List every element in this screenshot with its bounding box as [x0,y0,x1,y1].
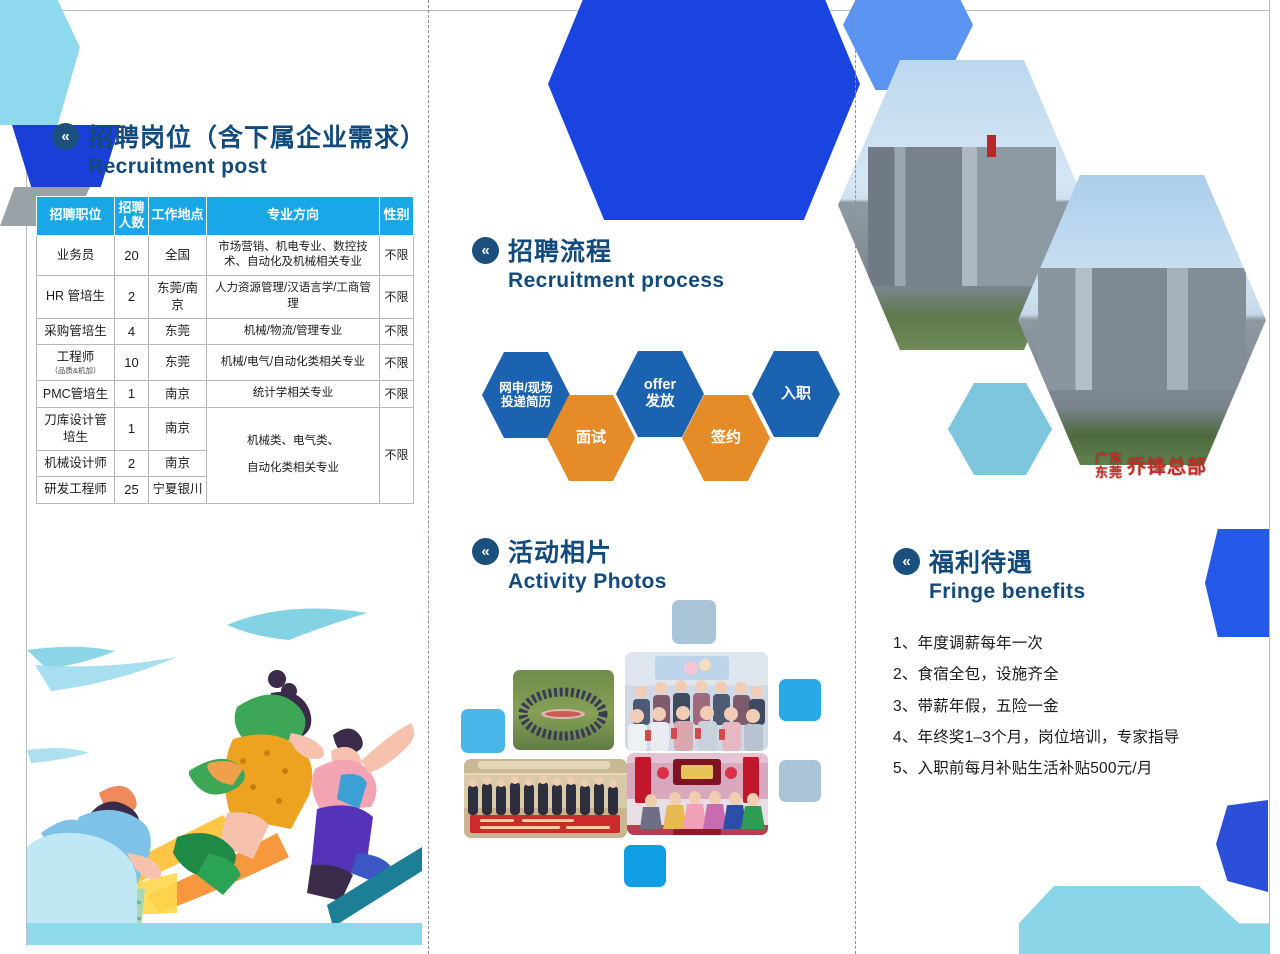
corner-hexagon-cyan [0,0,80,125]
cell-position-sub: （品质&机加） [40,366,111,376]
cell-count: 20 [115,235,149,275]
skiers-illustration [27,565,422,945]
chevron-left-double-icon: « [472,538,499,565]
decorative-half-hexagon-right [1205,529,1269,637]
cell-location: 全国 [149,235,207,275]
cell-position: 业务员 [37,235,115,275]
process-step-onboarding: 入职 [752,351,840,437]
decor-square-2 [779,679,821,721]
heading-en: Recruitment process [508,269,725,293]
cell-major: 市场营销、机电专业、数控技术、自动化及机械相关专业 [207,235,380,275]
heading-cn: 福利待遇 [929,549,1033,577]
th-position: 招聘职位 [37,197,115,236]
cell-gender: 不限 [380,381,414,408]
table-row: PMC管培生 1 南京 统计学相关专业 不限 [37,381,414,408]
decor-square-5 [624,845,666,887]
team-circle-outdoor-photo [513,670,614,750]
table-row: 工程师 （品质&机加） 10 东莞 机械/电气/自动化类相关专业 不限 [37,345,414,381]
decor-square-3 [779,760,821,802]
cell-count: 2 [115,275,149,318]
conference-banner-photo [464,759,627,838]
cell-major: 人力资源管理/汉语言学/工商管理 [207,275,380,318]
cell-gender: 不限 [380,275,414,318]
cell-location: 东莞 [149,345,207,381]
heading-recruitment-post: «招聘岗位（含下属企业需求） Recruitment post [52,118,426,179]
list-item: 5、入职前每月补贴生活补贴500元/月 [893,753,1223,784]
chevron-left-double-icon: « [52,123,79,150]
cell-count: 25 [115,477,149,504]
brochure-page: 广东 东莞 乔锋总部 «招聘岗位（含下属企业需求） Recruitment po… [0,0,1280,954]
cell-location: 东莞 [149,318,207,345]
caption-small-line2: 东莞 [1095,465,1123,480]
headquarters-caption: 广东 东莞 乔锋总部 [1095,443,1255,488]
cell-major-merged: 机械类、电气类、 自动化类相关专业 [207,407,380,503]
heading-cn: 活动相片 [508,539,612,567]
cell-major: 统计学相关专业 [207,381,380,408]
list-item: 1、年度调薪每年一次 [893,628,1223,659]
cell-position: HR 管培生 [37,275,115,318]
cell-major: 机械/电气/自动化类相关专业 [207,345,380,381]
cell-major: 机械/物流/管理专业 [207,318,380,345]
heading-en: Activity Photos [508,570,667,594]
fold-line-right [855,0,856,954]
cell-gender: 不限 [380,345,414,381]
cell-location: 南京 [149,450,207,477]
cell-position: 采购管培生 [37,318,115,345]
benefits-list: 1、年度调薪每年一次 2、食宿全包，设施齐全 3、带薪年假，五险一金 4、年终奖… [893,628,1223,784]
decor-square-4 [461,709,505,753]
fold-line-left [428,0,429,954]
table-row: 业务员 20 全国 市场营销、机电专业、数控技术、自动化及机械相关专业 不限 [37,235,414,275]
cell-position: 工程师 （品质&机加） [37,345,115,381]
cell-gender: 不限 [380,318,414,345]
table-row: 采购管培生 4 东莞 机械/物流/管理专业 不限 [37,318,414,345]
decorative-hexagon-large-blue [548,0,860,220]
heading-recruitment-process: «招聘流程 Recruitment process [472,232,725,293]
cell-gender: 不限 [380,235,414,275]
cell-count: 4 [115,318,149,345]
th-count: 招聘人数 [115,197,149,236]
caption-main: 乔锋总部 [1127,452,1207,479]
th-location: 工作地点 [149,197,207,236]
decorative-shape-bottom-right-blue [1216,800,1268,892]
table-row: 刀库设计管培生 1 南京 机械类、电气类、 自动化类相关专业 不限 [37,407,414,450]
cell-location: 东莞/南京 [149,275,207,318]
cell-location: 南京 [149,407,207,450]
cell-gender-merged: 不限 [380,407,414,503]
th-major: 专业方向 [207,197,380,236]
list-item: 4、年终奖1–3个月，岗位培训，专家指导 [893,722,1223,753]
heading-en: Fringe benefits [929,580,1086,604]
chevron-left-double-icon: « [893,548,920,575]
chevron-left-double-icon: « [472,237,499,264]
recruitment-table: 招聘职位 招聘人数 工作地点 专业方向 性别 业务员 20 全国 市场营销、机电… [36,196,414,504]
heading-cn: 招聘流程 [508,238,612,266]
cell-location: 南京 [149,381,207,408]
cell-count: 1 [115,407,149,450]
decorative-shape-bottom-right-cyan [1019,886,1269,954]
cell-position: 研发工程师 [37,477,115,504]
cell-count: 1 [115,381,149,408]
cell-count: 10 [115,345,149,381]
group-indoor-event-photo [625,652,768,751]
page-border-right [1269,0,1270,954]
cell-position: 机械设计师 [37,450,115,477]
cell-position: PMC管培生 [37,381,115,408]
heading-cn-paren: （含下属企业需求） [192,124,426,152]
stage-performance-photo [627,753,768,835]
th-gender: 性别 [380,197,414,236]
cell-position: 刀库设计管培生 [37,407,115,450]
table-header-row: 招聘职位 招聘人数 工作地点 专业方向 性别 [37,197,414,236]
table-row: HR 管培生 2 东莞/南京 人力资源管理/汉语言学/工商管理 不限 [37,275,414,318]
decor-square-1 [672,600,716,644]
cell-count: 2 [115,450,149,477]
heading-cn: 招聘岗位 [88,124,192,152]
heading-activity-photos: «活动相片 Activity Photos [472,533,667,594]
heading-en: Recruitment post [88,155,426,179]
list-item: 3、带薪年假，五险一金 [893,691,1223,722]
heading-fringe-benefits: «福利待遇 Fringe benefits [893,543,1086,604]
list-item: 2、食宿全包，设施齐全 [893,659,1223,690]
decorative-hexagon-cyan [948,383,1052,475]
cell-location: 宁夏银川 [149,477,207,504]
